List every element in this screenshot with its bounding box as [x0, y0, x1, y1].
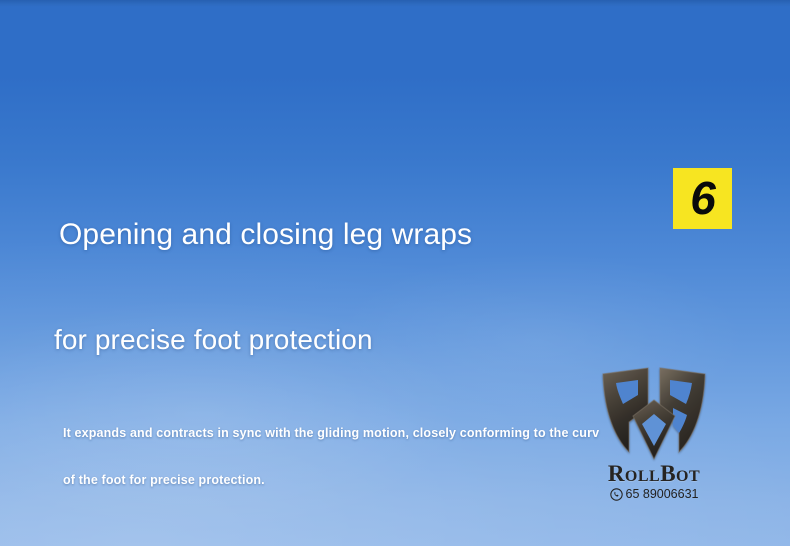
step-number-label: 6	[690, 175, 715, 221]
rollbot-shield-icon	[595, 360, 713, 464]
rollbot-contact: 65 89006631	[588, 488, 720, 501]
rollbot-phone-label: 65 89006631	[626, 488, 699, 501]
rollbot-brand-label: RollBot	[588, 462, 720, 485]
whatsapp-icon	[610, 488, 623, 501]
top-edge-artifact	[0, 0, 790, 7]
headline-line-2: for precise foot protection	[54, 324, 373, 356]
step-number-badge: 6	[673, 168, 732, 229]
rollbot-watermark: RollBot 65 89006631	[588, 360, 720, 501]
body-line-1: It expands and contracts in sync with th…	[63, 426, 599, 440]
background-cloud-right	[330, 250, 750, 430]
body-line-2: of the foot for precise protection.	[63, 473, 265, 487]
headline-line-1: Opening and closing leg wraps	[59, 218, 472, 252]
slide-canvas: Opening and closing leg wraps for precis…	[0, 0, 790, 546]
background-sheen	[0, 0, 790, 546]
